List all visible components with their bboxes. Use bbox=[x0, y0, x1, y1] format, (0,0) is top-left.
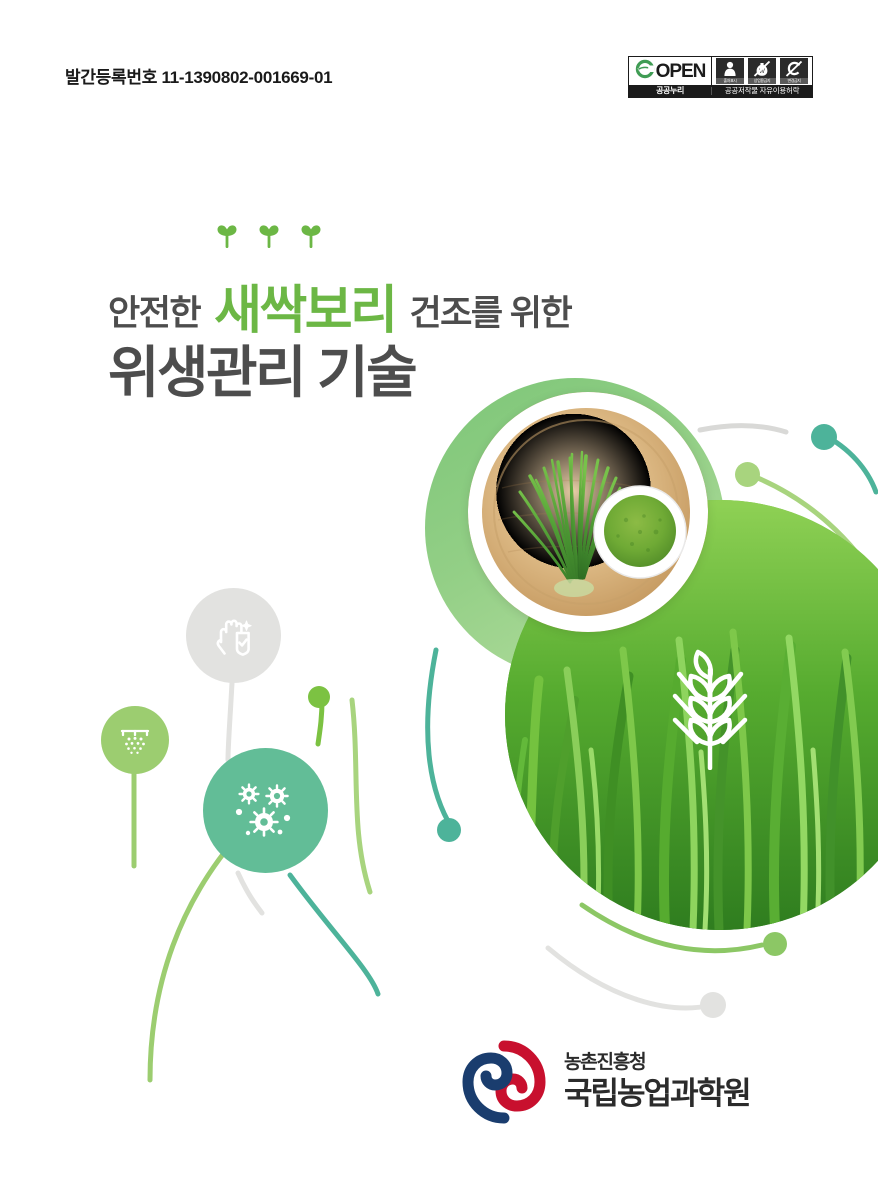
no-commercial-icon: W 상업용금지 bbox=[748, 58, 776, 84]
barley-sprout-plate-photo bbox=[468, 392, 708, 632]
grass-blades-illustration bbox=[505, 500, 878, 930]
no-derivative-glyph bbox=[780, 58, 808, 78]
hand-shield-hygiene-bubble bbox=[186, 588, 281, 683]
microbe-germ-bubble bbox=[203, 748, 328, 873]
plate-illustration bbox=[468, 392, 708, 632]
taegeuk-government-logo bbox=[462, 1040, 546, 1124]
deco-dot-teal-lower bbox=[437, 818, 461, 842]
open-word: OPEN bbox=[656, 62, 706, 81]
sprout-icon bbox=[296, 220, 326, 250]
kogl-open-logo: OPEN bbox=[629, 57, 712, 85]
kogl-name: 공공누리 bbox=[629, 87, 712, 95]
publisher-institute: 국립농업과학원 bbox=[564, 1076, 750, 1112]
deco-dot-gray-bottom bbox=[700, 992, 726, 1018]
sprout-icon bbox=[254, 220, 284, 250]
hand-shield-hygiene-icon bbox=[208, 610, 260, 662]
decorative-graphics-layer bbox=[0, 0, 878, 1200]
publisher-agency: 농촌진흥청 bbox=[564, 1052, 750, 1074]
publication-cover: 발간등록번호 11-1390802-001669-01 OPEN bbox=[0, 0, 878, 1200]
no-commercial-label: 상업용금지 bbox=[748, 78, 776, 84]
publication-number: 발간등록번호 11-1390802-001669-01 bbox=[65, 63, 332, 88]
publication-number-value: 11-1390802-001669-01 bbox=[161, 68, 332, 87]
green-circle-backdrop bbox=[425, 378, 725, 678]
publisher-logo-block: 농촌진흥청 국립농업과학원 bbox=[462, 1040, 750, 1124]
attribution-glyph bbox=[716, 58, 744, 78]
deco-dot-green-mid bbox=[308, 686, 330, 708]
attribution-icon: 출처표시 bbox=[716, 58, 744, 84]
sprout-icon bbox=[212, 220, 242, 250]
title-suffix: 건조를 위한 bbox=[409, 285, 571, 336]
deco-dot-green-right bbox=[735, 462, 760, 487]
no-derivative-icon: 변경금지 bbox=[780, 58, 808, 84]
decorative-arcs bbox=[0, 0, 878, 1200]
shower-sprinkler-icon bbox=[115, 720, 155, 760]
attribution-label: 출처표시 bbox=[716, 78, 744, 84]
deco-dot-teal-top-right bbox=[811, 424, 837, 450]
kogl-condition-icons: 출처표시 W 상업용금지 bbox=[712, 57, 812, 85]
kogl-badge-bottom: 공공누리 공공저작물 자유이용허락 bbox=[629, 85, 812, 97]
publisher-text: 농촌진흥청 국립농업과학원 bbox=[564, 1052, 750, 1111]
title-main: 위생관리 기술 bbox=[108, 328, 415, 409]
kogl-open-license-badge: OPEN 출처표시 bbox=[628, 56, 813, 98]
kogl-badge-top: OPEN 출처표시 bbox=[629, 57, 812, 85]
open-logo-text: OPEN bbox=[635, 59, 706, 83]
no-commercial-glyph: W bbox=[748, 58, 776, 78]
deco-dot-green-bottom bbox=[763, 932, 787, 956]
shower-sprinkler-bubble bbox=[101, 706, 169, 774]
open-o-icon bbox=[635, 59, 655, 83]
kogl-description: 공공저작물 자유이용허락 bbox=[712, 87, 812, 95]
sprout-icon-row bbox=[212, 220, 326, 250]
microbe-germ-icon bbox=[231, 780, 301, 842]
barley-grass-photo-circle bbox=[505, 500, 878, 930]
wheat-ear-icon bbox=[655, 630, 765, 770]
publication-number-label: 발간등록번호 bbox=[65, 68, 157, 87]
no-derivative-label: 변경금지 bbox=[780, 78, 808, 84]
